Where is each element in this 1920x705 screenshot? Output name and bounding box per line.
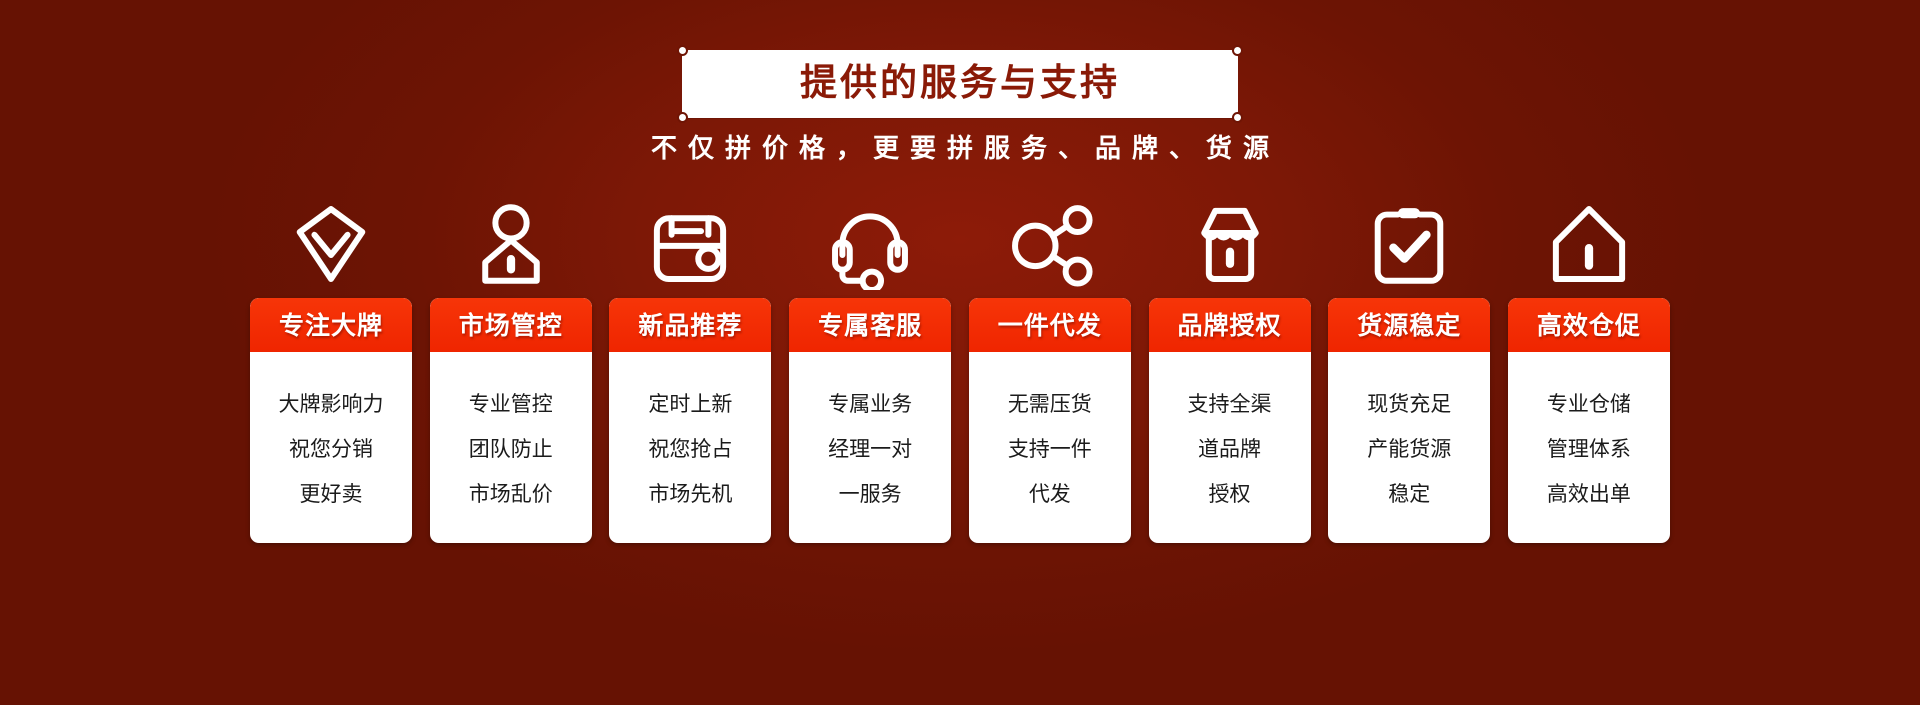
service-card[interactable]: 高效仓促专业仓储管理体系高效出单	[1508, 196, 1670, 543]
service-card-line: 大牌影响力	[279, 382, 384, 427]
service-card-header: 品牌授权	[1149, 298, 1311, 352]
banner-corner-dot-bottom-left	[677, 112, 688, 123]
page-title: 提供的服务与支持	[800, 61, 1120, 105]
service-card-line: 无需压货	[1008, 382, 1092, 427]
storefront-icon	[1184, 196, 1276, 292]
service-card-text: 专业管控团队防止市场乱价	[430, 352, 592, 543]
service-card-line: 稳定	[1388, 472, 1430, 517]
service-card-line: 更好卖	[300, 472, 363, 517]
service-card[interactable]: 一件代发无需压货支持一件代发	[969, 196, 1131, 543]
service-card-line: 代发	[1029, 472, 1071, 517]
service-card-header: 专属客服	[789, 298, 951, 352]
service-card-body: 市场管控专业管控团队防止市场乱价	[430, 298, 592, 543]
person-badge-icon	[465, 196, 557, 292]
service-card-header: 高效仓促	[1508, 298, 1670, 352]
service-card-line: 祝您抢占	[648, 427, 732, 472]
page-subtitle: 不仅拼价格，更要拼服务、品牌、货源	[0, 128, 1920, 165]
service-card-body: 品牌授权支持全渠道品牌授权	[1149, 298, 1311, 543]
service-card-line: 一服务	[839, 472, 902, 517]
service-card-header: 货源稳定	[1328, 298, 1490, 352]
service-card-text: 无需压货支持一件代发	[969, 352, 1131, 543]
service-card-line: 高效出单	[1547, 472, 1631, 517]
briefcase-icon	[644, 196, 736, 292]
service-card-line: 授权	[1209, 472, 1251, 517]
service-card-line: 现货充足	[1367, 382, 1451, 427]
title-banner: 提供的服务与支持	[682, 50, 1238, 118]
service-card-line: 市场先机	[648, 472, 732, 517]
service-card[interactable]: 市场管控专业管控团队防止市场乱价	[430, 196, 592, 543]
service-card-line: 道品牌	[1198, 427, 1261, 472]
title-banner-wrap: 提供的服务与支持	[682, 50, 1238, 118]
diamond-icon	[285, 196, 377, 292]
service-card[interactable]: 新品推荐定时上新祝您抢占市场先机	[609, 196, 771, 543]
service-card-line: 市场乱价	[469, 472, 553, 517]
service-card-line: 管理体系	[1547, 427, 1631, 472]
service-card[interactable]: 专注大牌大牌影响力祝您分销更好卖	[250, 196, 412, 543]
service-card[interactable]: 品牌授权支持全渠道品牌授权	[1149, 196, 1311, 543]
banner-corner-dot-top-left	[677, 45, 688, 56]
service-card-body: 高效仓促专业仓储管理体系高效出单	[1508, 298, 1670, 543]
service-card-body: 一件代发无需压货支持一件代发	[969, 298, 1131, 543]
share-network-icon	[1004, 196, 1096, 292]
service-card-header: 专注大牌	[250, 298, 412, 352]
service-card-body: 专注大牌大牌影响力祝您分销更好卖	[250, 298, 412, 543]
service-card-text: 定时上新祝您抢占市场先机	[609, 352, 771, 543]
service-card-header: 市场管控	[430, 298, 592, 352]
service-card-body: 专属客服专属业务经理一对一服务	[789, 298, 951, 543]
service-card-line: 团队防止	[469, 427, 553, 472]
clipboard-check-icon	[1363, 196, 1455, 292]
service-card-line: 祝您分销	[289, 427, 373, 472]
service-card-line: 定时上新	[648, 382, 732, 427]
service-card-text: 大牌影响力祝您分销更好卖	[250, 352, 412, 543]
service-card-line: 经理一对	[828, 427, 912, 472]
service-card[interactable]: 专属客服专属业务经理一对一服务	[789, 196, 951, 543]
service-card-line: 专业仓储	[1547, 382, 1631, 427]
service-card-list: 专注大牌大牌影响力祝您分销更好卖市场管控专业管控团队防止市场乱价新品推荐定时上新…	[250, 196, 1670, 543]
warehouse-home-icon	[1543, 196, 1635, 292]
service-card-header: 新品推荐	[609, 298, 771, 352]
promo-banner: 提供的服务与支持 不仅拼价格，更要拼服务、品牌、货源 专注大牌大牌影响力祝您分销…	[0, 0, 1920, 705]
banner-corner-dot-top-right	[1232, 45, 1243, 56]
service-card-line: 专业管控	[469, 382, 553, 427]
service-card-line: 支持全渠	[1188, 382, 1272, 427]
service-card-line: 产能货源	[1367, 427, 1451, 472]
service-card-line: 专属业务	[828, 382, 912, 427]
service-card-text: 专属业务经理一对一服务	[789, 352, 951, 543]
headset-icon	[824, 196, 916, 292]
service-card-text: 专业仓储管理体系高效出单	[1508, 352, 1670, 543]
service-card-text: 支持全渠道品牌授权	[1149, 352, 1311, 543]
service-card[interactable]: 货源稳定现货充足产能货源稳定	[1328, 196, 1490, 543]
service-card-body: 新品推荐定时上新祝您抢占市场先机	[609, 298, 771, 543]
service-card-text: 现货充足产能货源稳定	[1328, 352, 1490, 543]
service-card-body: 货源稳定现货充足产能货源稳定	[1328, 298, 1490, 543]
service-card-header: 一件代发	[969, 298, 1131, 352]
service-card-line: 支持一件	[1008, 427, 1092, 472]
banner-corner-dot-bottom-right	[1232, 112, 1243, 123]
